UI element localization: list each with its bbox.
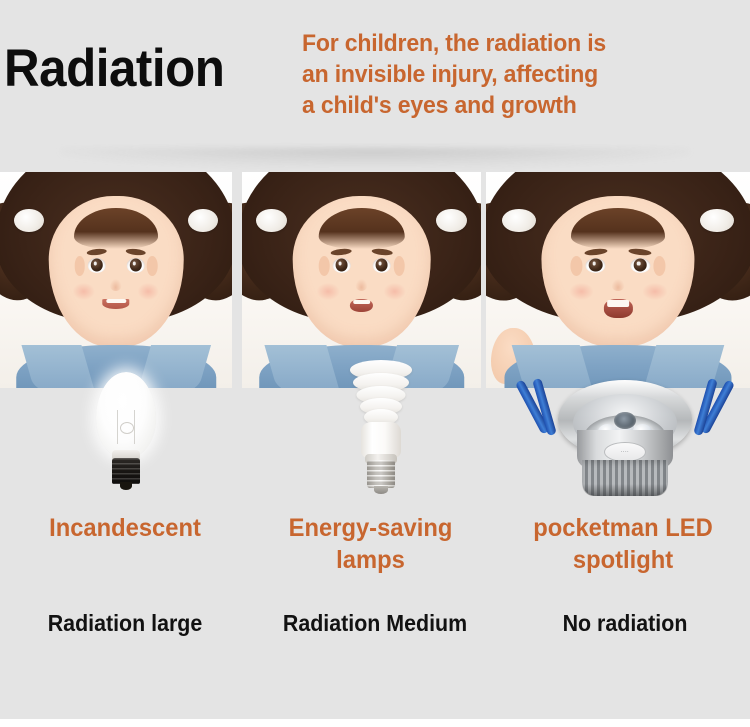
product-name-line: lamps: [259, 544, 482, 576]
product-name-line: pocketman LED: [502, 512, 743, 544]
subtitle-line-1: For children, the radiation is: [302, 28, 686, 59]
product-name-line: Incandescent: [6, 512, 244, 544]
footer-strip: [0, 719, 750, 727]
header-subtitle: For children, the radiation is an invisi…: [302, 28, 686, 121]
child-face: [49, 196, 184, 347]
verdict-row: Radiation large Radiation Medium No radi…: [0, 608, 750, 648]
child-photo-1: [0, 172, 232, 388]
heat-sink-fins: [582, 460, 668, 496]
product-name-incandescent: Incandescent: [6, 512, 244, 544]
header-shadow: [60, 148, 690, 168]
child-photo-3: [486, 172, 750, 388]
product-name-row: Incandescent Energy-saving lamps pocketm…: [0, 512, 750, 582]
led-brand-label: ····: [604, 442, 646, 462]
product-name-energy-saving: Energy-saving lamps: [259, 512, 482, 576]
verdict-incandescent: Radiation large: [9, 608, 242, 638]
child-photo-2: [242, 172, 481, 388]
subtitle-line-3: a child's eyes and growth: [302, 90, 686, 121]
verdict-energy-saving: Radiation Medium: [259, 608, 492, 638]
hair-tie-right: [436, 209, 467, 233]
radiation-comparison-poster: Radiation For children, the radiation is…: [0, 0, 750, 727]
product-name-line: spotlight: [502, 544, 743, 576]
lamp-row: ····: [0, 380, 750, 510]
cfl-spiral-bulb-icon: [344, 360, 418, 500]
page-title: Radiation: [4, 40, 274, 98]
led-spotlight-icon: ····: [520, 372, 730, 500]
product-name-line: Energy-saving: [259, 512, 482, 544]
subtitle-line-2: an invisible injury, affecting: [302, 59, 686, 90]
poster-header: Radiation For children, the radiation is…: [0, 0, 750, 172]
product-name-led-spotlight: pocketman LED spotlight: [502, 512, 743, 576]
verdict-led-spotlight: No radiation: [509, 608, 742, 638]
photo-strip: [0, 172, 750, 388]
child-face: [292, 196, 431, 347]
incandescent-bulb-icon: [88, 372, 164, 494]
